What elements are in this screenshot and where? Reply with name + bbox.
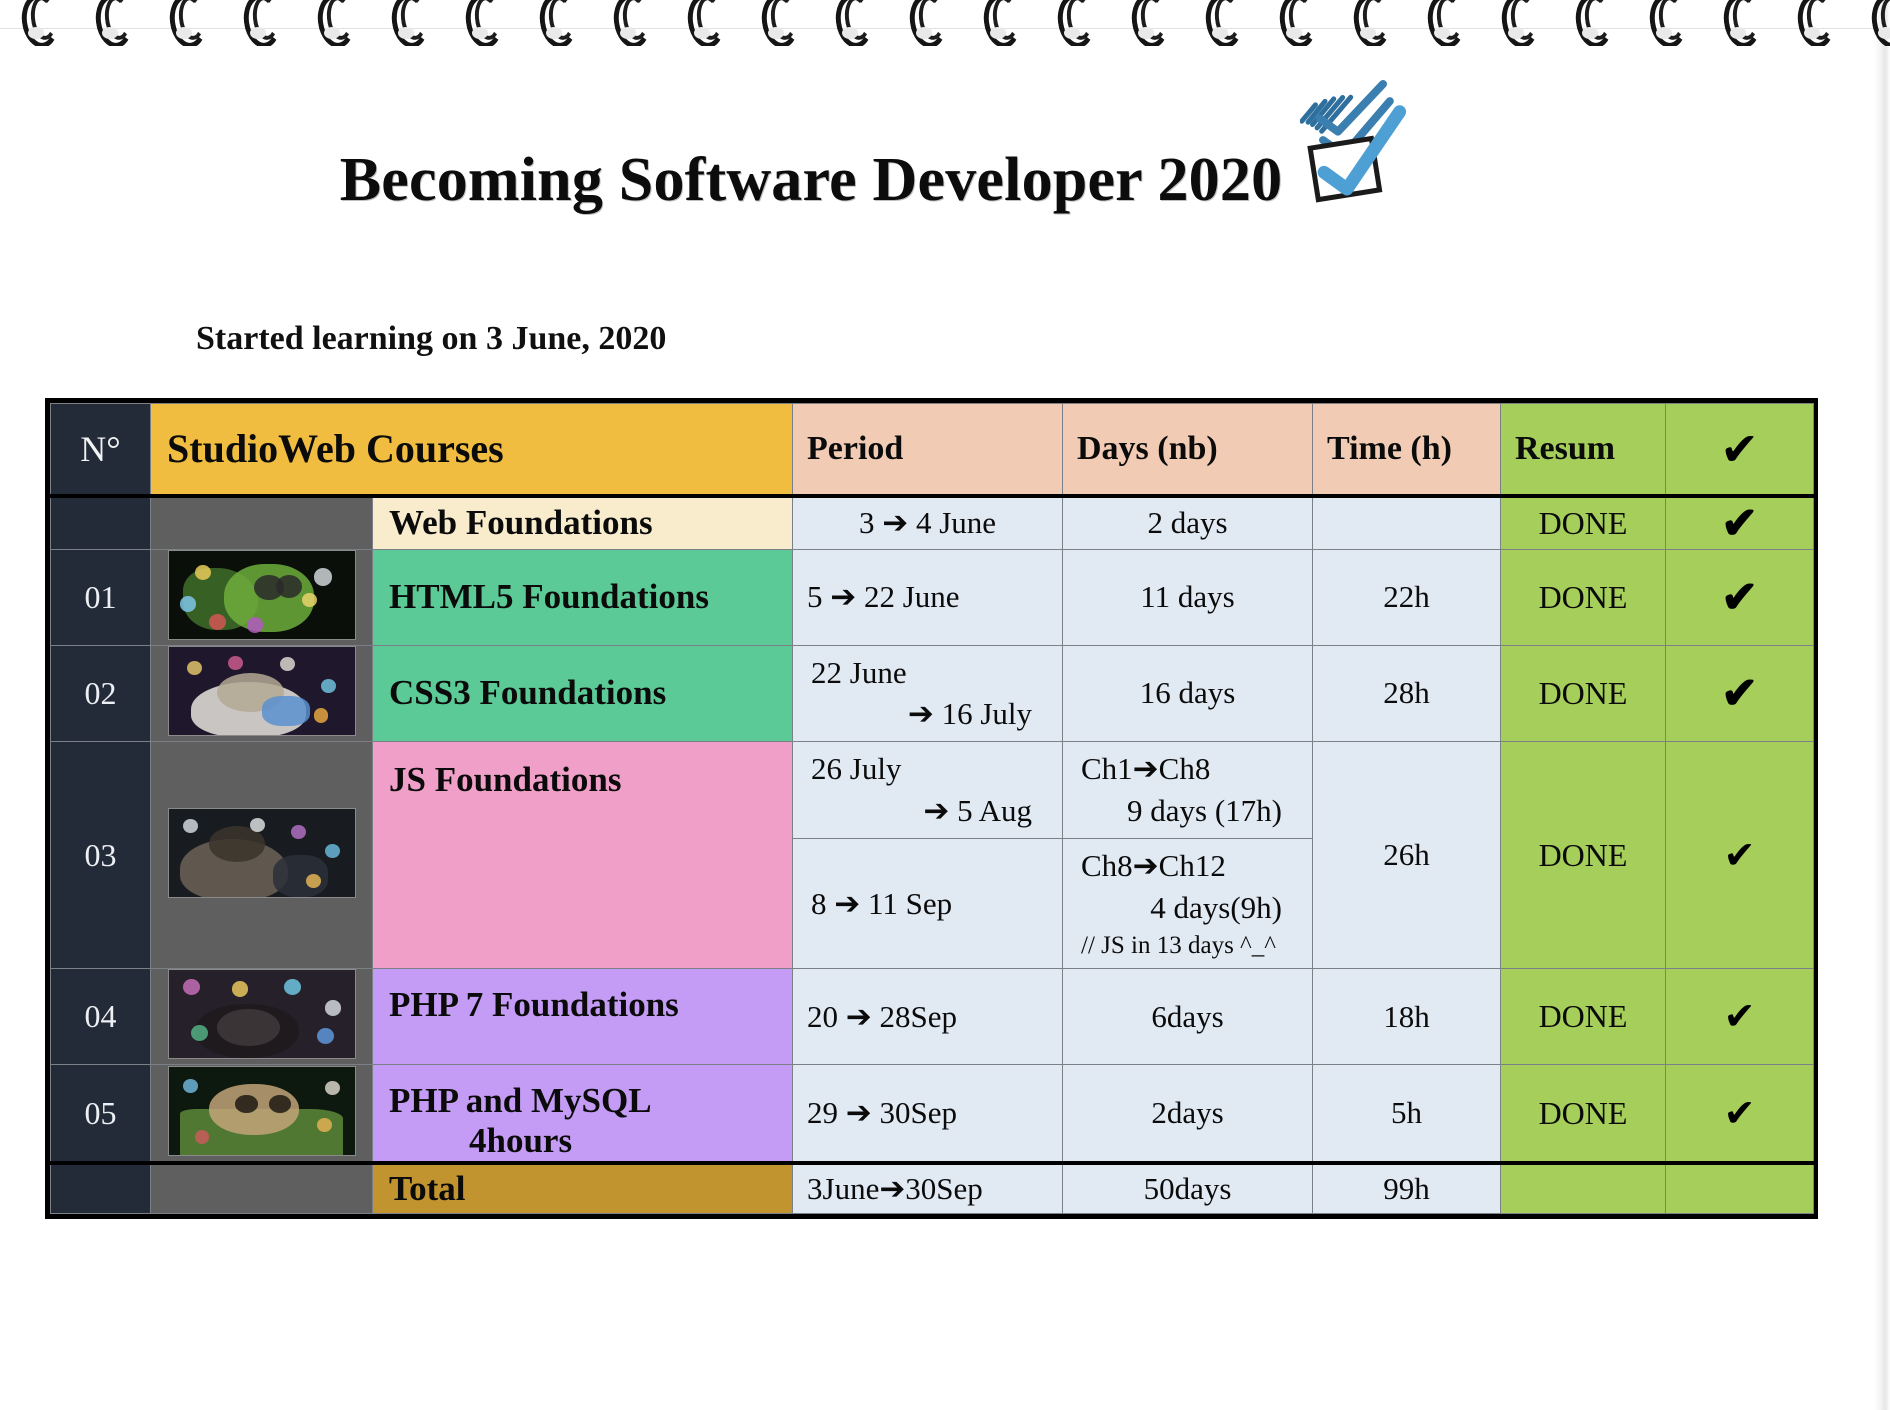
page-title-row: Becoming Software Developer 2020 [0, 118, 1790, 243]
check-icon: ✔ [1666, 969, 1814, 1065]
binding-ring-icon [1428, 0, 1462, 40]
total-thumb [151, 1163, 373, 1214]
thumbnail-cell [151, 496, 373, 550]
header-days: Days (nb) [1063, 404, 1313, 496]
header-time: Time (h) [1313, 404, 1501, 496]
resum-value: DONE [1501, 742, 1666, 969]
binding-ring-icon [540, 0, 574, 40]
binding-ring-icon [1576, 0, 1610, 40]
binding-ring-icon [910, 0, 944, 40]
course-name: CSS3 Foundations [373, 645, 793, 742]
header-no: N° [51, 404, 151, 496]
period-value: 5 ➔ 22 June [793, 549, 1063, 645]
course-thumbnail [168, 646, 356, 736]
binding-ring-icon [688, 0, 722, 40]
period-value: 8 ➔ 11 Sep [793, 838, 1063, 968]
time-value: 28h [1313, 645, 1501, 742]
days-line-2: 9 days (17h) [1071, 790, 1304, 832]
table-row: 05 PHP and MySQL 4hours 29 ➔ 30Se [51, 1065, 1814, 1164]
row-number: 01 [51, 549, 151, 645]
time-value: 5h [1313, 1065, 1501, 1164]
resum-value: DONE [1501, 496, 1666, 550]
spiral-binding [0, 0, 1890, 46]
row-number: 02 [51, 645, 151, 742]
binding-ring-icon [392, 0, 426, 40]
binding-ring-icon [466, 0, 500, 40]
check-icon: ✔ [1666, 645, 1814, 742]
total-label: Total [373, 1163, 793, 1214]
resum-value: DONE [1501, 549, 1666, 645]
period-value: 29 ➔ 30Sep [793, 1065, 1063, 1164]
course-thumbnail [168, 969, 356, 1059]
total-check [1666, 1163, 1814, 1214]
binding-ring-icon [1132, 0, 1166, 40]
course-thumbnail [168, 1066, 356, 1156]
days-value: 2 days [1063, 496, 1313, 550]
period-line-1: 26 July [801, 748, 1054, 790]
binding-ring-icon [1354, 0, 1388, 40]
course-name: HTML5 Foundations [373, 549, 793, 645]
binding-ring-icon [614, 0, 648, 40]
check-icon: ✔ [1666, 496, 1814, 550]
thumbnail-cell [151, 1065, 373, 1164]
period-value: 3 ➔ 4 June [793, 496, 1063, 550]
days-line-1: Ch1➔Ch8 [1071, 748, 1304, 790]
time-value: 26h [1313, 742, 1501, 969]
total-no [51, 1163, 151, 1214]
check-icon: ✔ [1666, 742, 1814, 969]
page-edge [1874, 0, 1890, 1410]
period-line-1: 22 June [801, 652, 1054, 694]
table-row: 03 JS Foundations 26 July ➔ 5 Aug [51, 742, 1814, 839]
binding-ring-icon [1724, 0, 1758, 40]
table-row: 02 CSS3 Foundations 22 June ➔ 16 July [51, 645, 1814, 742]
table-row: Web Foundations 3 ➔ 4 June 2 days DONE ✔ [51, 496, 1814, 550]
course-name: Web Foundations [373, 496, 793, 550]
course-thumbnail [168, 550, 356, 640]
binding-ring-icon [1206, 0, 1240, 40]
time-value [1313, 496, 1501, 550]
thumbnail-cell [151, 549, 373, 645]
resum-value: DONE [1501, 969, 1666, 1065]
days-value: Ch8➔Ch12 4 days(9h) // JS in 13 days ^_^ [1063, 838, 1313, 968]
period-line-1: 8 ➔ 11 Sep [801, 883, 1054, 925]
total-period: 3June➔30Sep [793, 1163, 1063, 1214]
header-period: Period [793, 404, 1063, 496]
row-number: 04 [51, 969, 151, 1065]
time-value: 18h [1313, 969, 1501, 1065]
binding-ring-icon [1872, 0, 1890, 40]
days-value: 6days [1063, 969, 1313, 1065]
table-row: 01 HTML5 Foundations 5 ➔ 22 June 11 [51, 549, 1814, 645]
resum-value: DONE [1501, 645, 1666, 742]
days-value: 16 days [1063, 645, 1313, 742]
row-number: 05 [51, 1065, 151, 1164]
binding-ring-icon [984, 0, 1018, 40]
courses-table-wrapper: N° StudioWeb Courses Period Days (nb) Ti… [45, 398, 1818, 1219]
days-line-1: Ch8➔Ch12 [1071, 845, 1304, 887]
period-line-2: ➔ 16 July [801, 693, 1054, 735]
course-name: JS Foundations [373, 742, 793, 969]
days-value: Ch1➔Ch8 9 days (17h) [1063, 742, 1313, 839]
binding-ring-icon [318, 0, 352, 40]
period-value: 20 ➔ 28Sep [793, 969, 1063, 1065]
total-time: 99h [1313, 1163, 1501, 1214]
header-resum: Resum [1501, 404, 1666, 496]
header-course: StudioWeb Courses [151, 404, 793, 496]
checklist-icon [1300, 80, 1450, 205]
binding-ring-icon [1650, 0, 1684, 40]
period-value: 26 July ➔ 5 Aug [793, 742, 1063, 839]
course-thumbnail [168, 808, 356, 898]
binding-ring-icon [1058, 0, 1092, 40]
period-line-2: ➔ 5 Aug [801, 790, 1054, 832]
days-value: 2days [1063, 1065, 1313, 1164]
thumbnail-cell [151, 969, 373, 1065]
page-title: Becoming Software Developer 2020 [340, 145, 1283, 216]
binding-ring-icon [1502, 0, 1536, 40]
binding-ring-icon [1798, 0, 1832, 40]
row-number: 03 [51, 742, 151, 969]
binding-ring-icon [22, 0, 56, 40]
check-icon: ✔ [1666, 549, 1814, 645]
total-resum [1501, 1163, 1666, 1214]
row-number [51, 496, 151, 550]
binding-ring-icon [1280, 0, 1314, 40]
table-row: 04 PHP 7 Foundations 20 ➔ 28Sep 6days 18… [51, 969, 1814, 1065]
binding-ring-icon [836, 0, 870, 40]
courses-table: N° StudioWeb Courses Period Days (nb) Ti… [50, 403, 1814, 1214]
check-icon: ✔ [1666, 1065, 1814, 1164]
binding-ring-icon [96, 0, 130, 40]
time-value: 22h [1313, 549, 1501, 645]
thumbnail-cell [151, 645, 373, 742]
days-note: // JS in 13 days ^_^ [1071, 929, 1304, 963]
total-days: 50days [1063, 1163, 1313, 1214]
days-value: 11 days [1063, 549, 1313, 645]
course-name: PHP 7 Foundations [373, 969, 793, 1065]
table-total-row: Total 3June➔30Sep 50days 99h [51, 1163, 1814, 1214]
page-subtitle: Started learning on 3 June, 2020 [196, 320, 666, 358]
thumbnail-cell [151, 742, 373, 969]
binding-ring-icon [762, 0, 796, 40]
binding-ring-icon [170, 0, 204, 40]
binding-ring-icon [244, 0, 278, 40]
course-name: PHP and MySQL 4hours [373, 1065, 793, 1164]
course-line-2: 4hours [389, 1079, 572, 1160]
header-check-icon: ✔ [1666, 404, 1814, 496]
period-value: 22 June ➔ 16 July [793, 645, 1063, 742]
resum-value: DONE [1501, 1065, 1666, 1164]
table-header-row: N° StudioWeb Courses Period Days (nb) Ti… [51, 404, 1814, 496]
days-line-2: 4 days(9h) [1071, 887, 1304, 929]
